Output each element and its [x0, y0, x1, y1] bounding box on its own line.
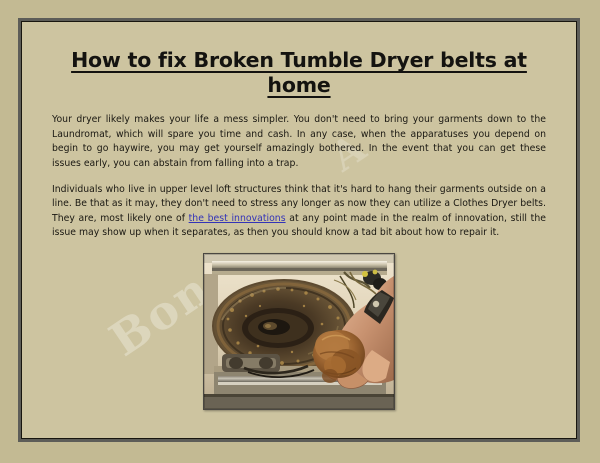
document-content: How to fix Broken Tumble Dryer belts at … — [22, 22, 576, 410]
page-title: How to fix Broken Tumble Dryer belts at … — [52, 48, 546, 97]
paragraph-2: Individuals who live in upper level loft… — [52, 183, 546, 241]
page-frame: A Bon How to fix Broken Tumble Dryer bel… — [21, 21, 577, 439]
page-sheet: A Bon How to fix Broken Tumble Dryer bel… — [22, 22, 576, 438]
document-page: A Bon How to fix Broken Tumble Dryer bel… — [0, 0, 600, 463]
dryer-drum-lint-photo — [203, 253, 395, 410]
best-innovations-link[interactable]: the best innovations — [189, 213, 286, 224]
dryer-drum-lint-photo-graphic — [204, 254, 394, 409]
paragraph-1: Your dryer likely makes your life a mess… — [52, 113, 546, 171]
